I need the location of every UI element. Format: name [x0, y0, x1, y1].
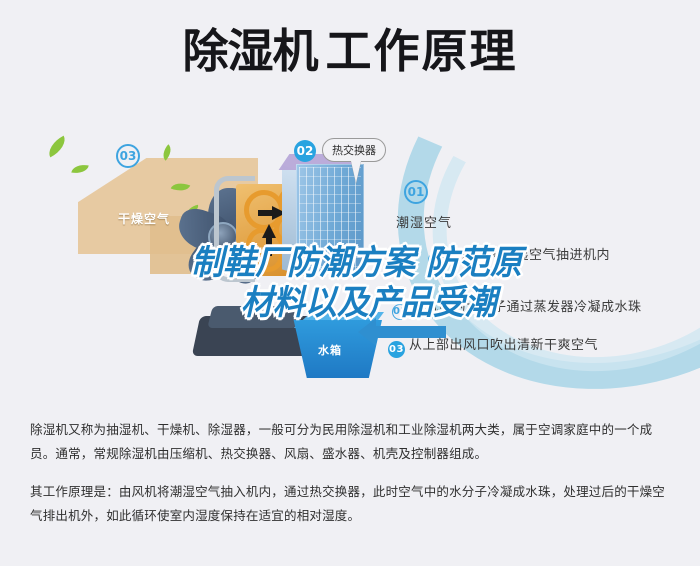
marker-02: 02 [294, 140, 316, 162]
step-line-02: 02空气中的水分子通过蒸发器冷凝成水珠 [392, 296, 642, 320]
step-text-01: 由风机将潮湿空气抽进机内 [448, 247, 610, 262]
step-number-02: 02 [392, 304, 408, 320]
moist-air-label: 潮湿空气 [396, 212, 452, 231]
step-number-03: 03 [388, 341, 405, 358]
step-line-03: 03从上部出风口吹出清新干爽空气 [388, 334, 598, 358]
heat-exchanger-callout: 热交换器 [322, 138, 386, 162]
infographic-page: 除湿机工作原理 干燥空气 [0, 0, 700, 566]
machine-base-upper [207, 306, 302, 328]
leaf-icon [71, 163, 88, 176]
body-copy: 除湿机又称为抽湿机、干燥机、除湿器，一般可分为民用除湿机和工业除湿机两大类，属于… [30, 418, 674, 542]
body-paragraph-2: 其工作原理是：由风机将潮湿空气抽入机内，通过热交换器，此时空气中的水分子冷凝成水… [30, 480, 674, 528]
dry-air-label: 干燥空气 [118, 210, 170, 227]
title-part-one: 除湿机 [183, 24, 318, 78]
water-tank-label: 水箱 [318, 342, 342, 358]
step-number-01: 01 [428, 252, 444, 268]
marker-03: 03 [116, 144, 140, 168]
title-part-two: 工作原理 [326, 24, 518, 78]
page-title: 除湿机工作原理 [0, 28, 700, 74]
body-paragraph-1: 除湿机又称为抽湿机、干燥机、除湿器，一般可分为民用除湿机和工业除湿机两大类，属于… [30, 418, 674, 466]
flow-arrow-up-icon [262, 224, 276, 238]
leaf-icon [44, 136, 70, 158]
marker-01: 01 [404, 180, 428, 204]
step-text-02: 空气中的水分子通过蒸发器冷凝成水珠 [412, 299, 642, 314]
flow-marker [266, 238, 272, 256]
step-line-01: 01由风机将潮湿空气抽进机内 [428, 244, 610, 268]
step-text-03: 从上部出风口吹出清新干爽空气 [409, 337, 598, 352]
dehumidifier-diagram: 干燥空气 水箱 [0, 120, 700, 405]
